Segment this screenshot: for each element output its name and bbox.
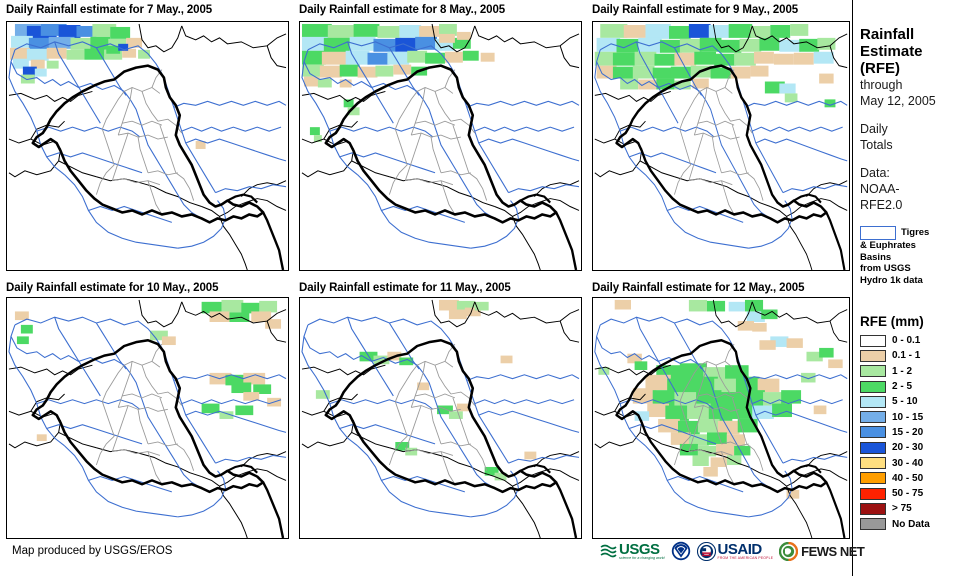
map-panel-2: Daily Rainfall estimate for 8 May., 2005 bbox=[299, 3, 505, 17]
legend-row: 5 - 10 bbox=[860, 394, 967, 409]
legend-swatch bbox=[860, 426, 886, 438]
legend-label: 0 - 0.1 bbox=[892, 335, 920, 346]
legend-row: 15 - 20 bbox=[860, 425, 967, 440]
legend-row: 2 - 5 bbox=[860, 379, 967, 394]
usgs-wave-icon bbox=[600, 543, 617, 560]
usaid-logo-text: USAID bbox=[718, 542, 774, 557]
legend-label: 20 - 30 bbox=[892, 442, 923, 453]
legend-label: 50 - 75 bbox=[892, 488, 923, 499]
partner-logos: USGS science for a changing world USA bbox=[600, 541, 864, 561]
sidebar-data-line2: NOAA- bbox=[860, 181, 967, 197]
basin-label-2: Basins bbox=[860, 252, 967, 264]
legend-swatch bbox=[860, 472, 886, 484]
legend-row: 1 - 2 bbox=[860, 364, 967, 379]
legend-label: 0.1 - 1 bbox=[892, 350, 920, 361]
fewsnet-logo: FEWS NET bbox=[779, 542, 864, 561]
legend-label: 5 - 10 bbox=[892, 396, 918, 407]
usgs-logo-tagline: science for a changing world bbox=[619, 557, 665, 561]
fewsnet-logo-text: FEWS NET bbox=[801, 544, 864, 559]
map-panel-title: Daily Rainfall estimate for 11 May., 200… bbox=[299, 281, 511, 295]
legend-swatch bbox=[860, 365, 886, 377]
legend-swatch bbox=[860, 488, 886, 500]
map-panel-1: Daily Rainfall estimate for 7 May., 2005 bbox=[6, 3, 212, 17]
legend-swatch bbox=[860, 503, 886, 515]
fewsnet-globe-icon bbox=[779, 542, 798, 561]
legend-label: > 75 bbox=[892, 503, 912, 514]
noaa-logo bbox=[671, 541, 691, 561]
map-credit: Map produced by USGS/EROS bbox=[12, 545, 172, 557]
legend-label: 10 - 15 bbox=[892, 412, 923, 423]
legend-row: 40 - 50 bbox=[860, 471, 967, 486]
map-canvas-4[interactable] bbox=[6, 297, 289, 539]
rain-raster-4 bbox=[15, 300, 281, 441]
map-canvas-6[interactable] bbox=[592, 297, 850, 539]
sidebar-title-line3: (RFE) bbox=[860, 60, 967, 77]
sidebar-through-label: through bbox=[860, 77, 967, 93]
sidebar-totals-line1: Daily bbox=[860, 121, 967, 137]
legend-row: 10 - 15 bbox=[860, 409, 967, 424]
basin-label-3: from USGS bbox=[860, 263, 967, 275]
legend-row: No Data bbox=[860, 517, 967, 532]
basin-label-1: & Euphrates bbox=[860, 240, 967, 252]
legend-label: No Data bbox=[892, 519, 930, 530]
rain-raster-5 bbox=[316, 300, 536, 480]
usaid-logo-tagline: FROM THE AMERICAN PEOPLE bbox=[718, 557, 774, 560]
basin-label-0: Tigres bbox=[901, 227, 929, 239]
legend-swatch bbox=[860, 335, 886, 347]
legend-title: RFE (mm) bbox=[860, 314, 967, 329]
legend-swatch bbox=[860, 442, 886, 454]
legend-label: 15 - 20 bbox=[892, 427, 923, 438]
map-canvas-2[interactable] bbox=[299, 21, 582, 271]
legend-row: 20 - 30 bbox=[860, 440, 967, 455]
rain-raster-2 bbox=[302, 24, 495, 142]
legend-row: > 75 bbox=[860, 501, 967, 516]
map-canvas-5[interactable] bbox=[299, 297, 582, 539]
legend-swatch bbox=[860, 518, 886, 530]
legend-label: 30 - 40 bbox=[892, 458, 923, 469]
map-panel-3: Daily Rainfall estimate for 9 May., 2005 bbox=[592, 3, 798, 17]
usgs-logo: USGS science for a changing world bbox=[600, 542, 665, 561]
legend-swatch bbox=[860, 396, 886, 408]
map-panel-5: Daily Rainfall estimate for 11 May., 200… bbox=[299, 281, 511, 295]
map-panel-title: Daily Rainfall estimate for 8 May., 2005 bbox=[299, 3, 505, 17]
map-panel-6: Daily Rainfall estimate for 12 May., 200… bbox=[592, 281, 804, 295]
legend-row: 30 - 40 bbox=[860, 455, 967, 470]
map-panel-title: Daily Rainfall estimate for 7 May., 2005 bbox=[6, 3, 212, 17]
legend-row: 0 - 0.1 bbox=[860, 333, 967, 348]
sidebar-totals-line2: Totals bbox=[860, 137, 967, 153]
sidebar-data-line1: Data: bbox=[860, 165, 967, 181]
map-canvas-1[interactable] bbox=[6, 21, 289, 271]
map-panel-title: Daily Rainfall estimate for 10 May., 200… bbox=[6, 281, 218, 295]
legend-label: 1 - 2 bbox=[892, 366, 912, 377]
map-canvas-3[interactable] bbox=[592, 21, 850, 271]
map-panel-title: Daily Rainfall estimate for 12 May., 200… bbox=[592, 281, 804, 295]
basin-label-4: Hydro 1k data bbox=[860, 275, 967, 287]
legend-sidebar: Rainfall Estimate (RFE) through May 12, … bbox=[852, 0, 967, 576]
sidebar-through-date: May 12, 2005 bbox=[860, 93, 967, 109]
sidebar-data-line3: RFE2.0 bbox=[860, 197, 967, 213]
legend-swatch bbox=[860, 381, 886, 393]
sidebar-title-line1: Rainfall bbox=[860, 26, 967, 43]
usaid-logo: USAID FROM THE AMERICAN PEOPLE bbox=[697, 542, 774, 561]
legend-list: 0 - 0.10.1 - 11 - 22 - 55 - 1010 - 1515 … bbox=[860, 333, 967, 532]
legend-label: 40 - 50 bbox=[892, 473, 923, 484]
legend-swatch bbox=[860, 457, 886, 469]
legend-label: 2 - 5 bbox=[892, 381, 912, 392]
usaid-seal-icon bbox=[697, 542, 716, 561]
basin-swatch bbox=[860, 226, 896, 240]
map-panel-4: Daily Rainfall estimate for 10 May., 200… bbox=[6, 281, 218, 295]
legend-swatch bbox=[860, 411, 886, 423]
usgs-logo-text: USGS bbox=[619, 542, 665, 557]
legend-row: 50 - 75 bbox=[860, 486, 967, 501]
map-panel-title: Daily Rainfall estimate for 9 May., 2005 bbox=[592, 3, 798, 17]
legend-row: 0.1 - 1 bbox=[860, 348, 967, 363]
sidebar-title-line2: Estimate bbox=[860, 43, 967, 60]
legend-swatch bbox=[860, 350, 886, 362]
